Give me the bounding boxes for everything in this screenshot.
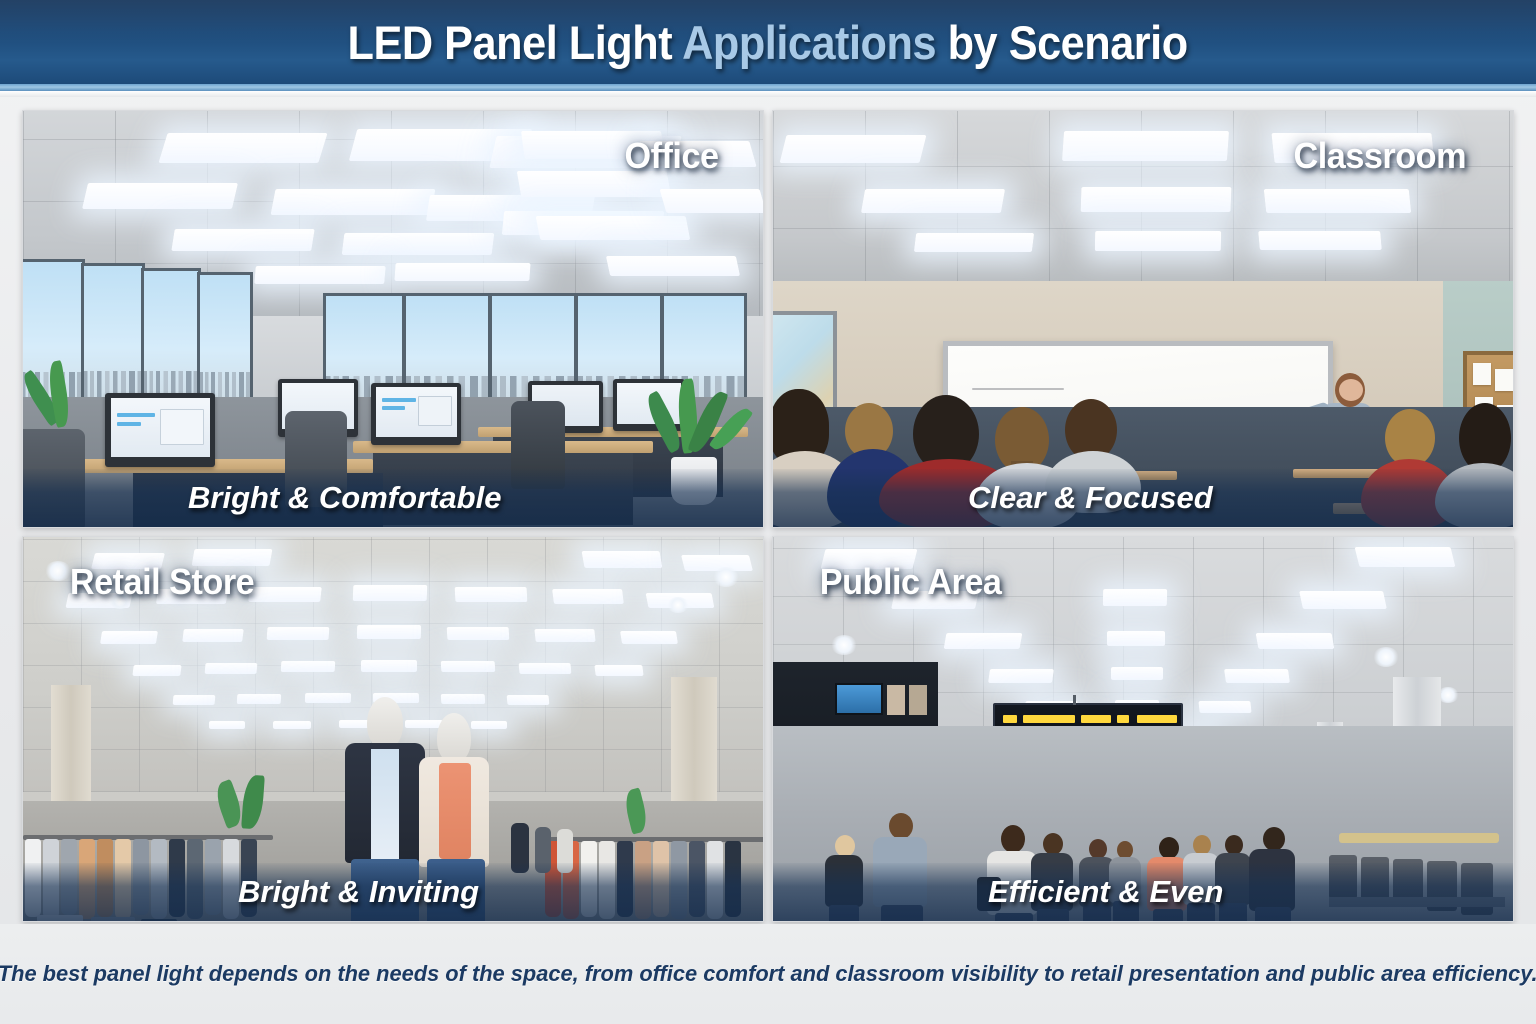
panel-title-retail: Retail Store bbox=[55, 559, 270, 605]
led-panel-icon bbox=[1081, 187, 1232, 212]
led-panel-icon bbox=[441, 661, 496, 672]
led-panel-icon bbox=[536, 216, 691, 240]
panel-retail[interactable]: Retail Store Bright & Inviting bbox=[22, 536, 764, 922]
led-panel-icon bbox=[237, 694, 282, 704]
track-downlight-icon bbox=[713, 567, 739, 587]
panel-title-public-area: Public Area bbox=[805, 559, 1017, 605]
led-panel-icon bbox=[205, 663, 258, 674]
header-accent-stripe bbox=[0, 84, 1536, 91]
led-panel-icon bbox=[1111, 667, 1163, 680]
led-panel-icon bbox=[534, 629, 595, 642]
seat-row-rail bbox=[1339, 833, 1499, 843]
led-panel-icon bbox=[1258, 231, 1382, 250]
led-panel-icon bbox=[82, 183, 238, 209]
page-title: LED Panel Light Applications by Scenario bbox=[348, 15, 1188, 70]
led-panel-icon bbox=[582, 551, 663, 568]
led-panel-icon bbox=[1062, 131, 1229, 161]
led-panel-icon bbox=[281, 661, 336, 672]
led-panel-icon bbox=[158, 133, 327, 163]
led-panel-icon bbox=[209, 721, 245, 729]
downlight-icon bbox=[831, 635, 857, 655]
led-panel-icon bbox=[100, 631, 158, 644]
led-panel-icon bbox=[353, 585, 428, 601]
caption-band-classroom: Clear & Focused bbox=[773, 469, 1513, 527]
mannequin-top bbox=[439, 763, 471, 859]
led-panel-icon bbox=[1264, 189, 1412, 213]
footer-summary-text: The best panel light depends on the need… bbox=[0, 961, 1536, 987]
led-panel-icon bbox=[1256, 633, 1335, 649]
panel-caption-office: Bright & Comfortable bbox=[23, 480, 501, 516]
led-panel-icon bbox=[1198, 701, 1251, 713]
panel-title-classroom: Classroom bbox=[1279, 133, 1482, 179]
advertising-poster bbox=[909, 685, 927, 715]
caption-band-retail: Bright & Inviting bbox=[23, 863, 763, 921]
page-title-part1: LED Panel Light bbox=[348, 16, 683, 69]
monitor bbox=[371, 383, 461, 445]
led-panel-icon bbox=[507, 695, 550, 705]
led-panel-icon bbox=[780, 135, 927, 163]
led-panel-icon bbox=[132, 665, 181, 676]
led-panel-icon bbox=[182, 629, 244, 642]
downlight-icon bbox=[1373, 647, 1399, 667]
panel-public-area[interactable]: Public Area Efficient & Even bbox=[772, 536, 1514, 922]
led-panel-icon bbox=[1299, 591, 1387, 609]
led-panel-icon bbox=[267, 627, 330, 640]
led-panel-icon bbox=[519, 663, 572, 674]
track-downlight-icon bbox=[667, 597, 689, 613]
led-panel-icon bbox=[594, 665, 643, 676]
led-panel-icon bbox=[357, 625, 421, 639]
led-panel-icon bbox=[861, 189, 1005, 213]
mannequin-head bbox=[437, 713, 471, 763]
caption-band-public-area: Efficient & Even bbox=[773, 863, 1513, 921]
led-panel-icon bbox=[273, 721, 311, 729]
led-panel-icon bbox=[914, 233, 1034, 252]
infographic-root: LED Panel Light Applications by Scenario bbox=[0, 0, 1536, 1024]
led-panel-icon bbox=[270, 189, 435, 215]
caption-band-office: Bright & Comfortable bbox=[23, 469, 763, 527]
page-title-accent: Applications bbox=[682, 16, 936, 69]
led-panel-icon bbox=[394, 263, 530, 281]
led-panel-icon bbox=[552, 589, 624, 604]
led-panel-icon bbox=[441, 694, 486, 704]
monitor bbox=[105, 393, 215, 467]
led-panel-icon bbox=[173, 695, 216, 705]
led-panel-icon bbox=[620, 631, 678, 644]
teacher-face bbox=[1339, 379, 1363, 401]
scenario-grid: Office Bright & Comfortable bbox=[22, 110, 1514, 922]
sign-hanger bbox=[1073, 695, 1076, 705]
advertising-poster bbox=[887, 685, 905, 715]
led-panel-icon bbox=[405, 720, 443, 728]
advertising-screen bbox=[835, 683, 883, 715]
led-panel-icon bbox=[606, 256, 740, 276]
panel-office[interactable]: Office Bright & Comfortable bbox=[22, 110, 764, 528]
led-panel-icon bbox=[305, 693, 351, 703]
led-panel-icon bbox=[447, 627, 510, 640]
page-title-part2: by Scenario bbox=[936, 16, 1188, 69]
led-panel-icon bbox=[1095, 231, 1221, 251]
mannequin-shirt bbox=[371, 749, 399, 861]
led-panel-icon bbox=[171, 229, 314, 251]
header-divider bbox=[0, 91, 1536, 97]
led-panel-icon bbox=[455, 587, 528, 602]
header-banner: LED Panel Light Applications by Scenario bbox=[0, 0, 1536, 84]
led-panel-icon bbox=[1107, 631, 1165, 646]
led-panel-icon bbox=[660, 189, 764, 213]
led-panel-icon bbox=[1224, 669, 1290, 683]
led-panel-icon bbox=[471, 721, 507, 729]
panel-classroom[interactable]: Classroom Clear & Focused bbox=[772, 110, 1514, 528]
panel-caption-retail: Bright & Inviting bbox=[23, 874, 479, 910]
led-panel-icon bbox=[944, 633, 1023, 649]
led-panel-icon bbox=[1103, 589, 1167, 606]
panel-caption-public-area: Efficient & Even bbox=[773, 874, 1223, 910]
led-panel-icon bbox=[254, 266, 386, 284]
led-panel-icon bbox=[988, 669, 1054, 683]
panel-title-office: Office bbox=[609, 133, 733, 179]
led-panel-icon bbox=[361, 660, 417, 672]
mannequin-head bbox=[367, 697, 403, 749]
led-panel-icon bbox=[1355, 547, 1456, 567]
led-panel-icon bbox=[342, 233, 495, 255]
footer-bar: The best panel light depends on the need… bbox=[0, 924, 1536, 1024]
panel-caption-classroom: Clear & Focused bbox=[773, 480, 1213, 516]
